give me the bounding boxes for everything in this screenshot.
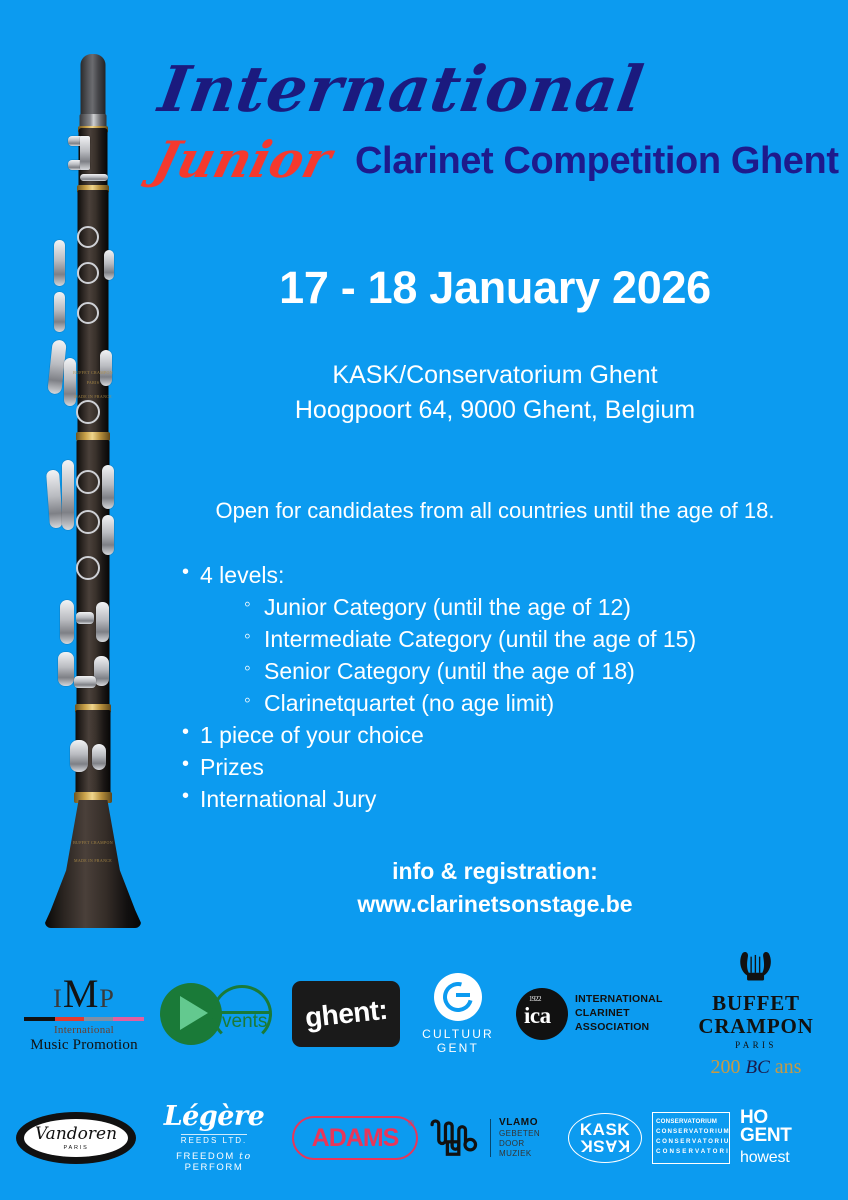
- clarinet-key-lever: [94, 656, 109, 686]
- clarinet-tone-ring: [77, 302, 99, 324]
- events-play-icon: [180, 996, 208, 1030]
- clarinet-bell-engraving-made: MADE IN FRANCE: [74, 858, 112, 864]
- logo-legere: Légère REEDS LTD. FREEDOM to PERFORM: [146, 1103, 282, 1173]
- logo-vandoren: Vandoren PARIS: [16, 1112, 136, 1164]
- clarinet-engraving-sub: PARIS: [87, 380, 99, 386]
- buffet-anniversary: 200 BC ans: [680, 1056, 832, 1079]
- ica-line-1: INTERNATIONAL: [575, 993, 663, 1007]
- clarinet-photo: BUFFET CRAMPON PARIS MADE IN FRANCE BUFF…: [18, 40, 168, 930]
- sub-list-item: Intermediate Category (until the age of …: [242, 624, 828, 656]
- legere-wordmark: Légère: [146, 1103, 282, 1130]
- imp-letters: IMP: [20, 974, 148, 1014]
- buffet-paris: PARIS: [680, 1040, 832, 1050]
- clarinet-key-lever: [58, 652, 74, 686]
- logo-events: vents: [160, 981, 280, 1047]
- vlamo-sub-2: DOOR: [499, 1139, 540, 1149]
- legere-tagline-c: PERFORM: [185, 1162, 244, 1173]
- buffet-anniv-number: 200: [711, 1056, 741, 1078]
- clarinet-bell: [45, 800, 141, 928]
- clarinet-key-lever: [96, 602, 109, 642]
- conservatorium-word: CONSERVATORIUM: [656, 1128, 730, 1135]
- logo-buffet-crampon: BUFFET CRAMPON PARIS 200 BC ans: [680, 949, 832, 1078]
- ica-fullname: INTERNATIONAL CLARINET ASSOCIATION: [575, 993, 663, 1035]
- cultuur-gent-bar-shape: [456, 993, 470, 997]
- logo-imp: IMP International Music Promotion: [20, 974, 148, 1054]
- details-list: 4 levels: Junior Category (until the age…: [178, 560, 828, 816]
- poster-root: BUFFET CRAMPON PARIS MADE IN FRANCE BUFF…: [0, 0, 848, 1200]
- registration-label: info & registration:: [150, 855, 840, 888]
- clarinet-key: [74, 676, 96, 688]
- conservatorium-word: CONSERVATORIUM: [656, 1138, 730, 1145]
- conservatorium-word: CONSERVATORIUM: [656, 1148, 730, 1155]
- howest-wordmark: howest: [740, 1149, 836, 1167]
- title-junior-script: Junior: [148, 130, 338, 189]
- vlamo-divider: [490, 1119, 491, 1157]
- ica-line-2: CLARINET: [575, 1007, 663, 1021]
- clarinet-bell-engraving: BUFFET CRAMPON: [73, 840, 113, 846]
- legere-tagline-b: to: [239, 1151, 252, 1162]
- venue-line-1: KASK/Conservatorium Ghent: [150, 358, 840, 393]
- clarinet-tone-ring: [76, 556, 100, 580]
- clarinet-key-lever: [60, 600, 74, 644]
- cultuur-gent-line-2: GENT: [412, 1041, 504, 1055]
- logo-ghent: ghent:: [292, 981, 400, 1047]
- sub-list-item: Junior Category (until the age of 12): [242, 592, 828, 624]
- event-date: 17 - 18 January 2026: [150, 262, 840, 314]
- imp-letter-i: I: [53, 984, 63, 1013]
- sub-list: Junior Category (until the age of 12) In…: [242, 592, 828, 720]
- list-item: 4 levels: Junior Category (until the age…: [178, 560, 828, 720]
- clarinet-engraving-made: MADE IN FRANCE: [74, 394, 112, 400]
- buffet-line-1: BUFFET: [680, 992, 832, 1015]
- vlamo-name: VLAMO: [499, 1117, 540, 1129]
- clarinet-engraving: BUFFET CRAMPON: [73, 370, 113, 376]
- vandoren-wordmark: Vandoren: [35, 1126, 117, 1143]
- vlamo-sub-3: MUZIEK: [499, 1149, 540, 1159]
- registration-block: info & registration: www.clarinetsonstag…: [150, 855, 840, 922]
- ica-year: 1922: [529, 995, 541, 1003]
- adams-registered-icon: ®: [408, 1119, 414, 1128]
- buffet-line-2: CRAMPON: [680, 1015, 832, 1038]
- legere-tagline-a: FREEDOM: [176, 1151, 235, 1162]
- cultuur-gent-icon: [434, 973, 482, 1021]
- clarinet-key-lever: [70, 740, 88, 772]
- list-item: International Jury: [178, 784, 828, 816]
- title-international-script: International: [154, 52, 649, 126]
- clarinet-key-lever: [46, 470, 63, 529]
- logo-conservatorium: CONSERVATORIUM CONSERVATORIUM CONSERVATO…: [652, 1112, 730, 1164]
- events-label: vents: [222, 1011, 267, 1033]
- sub-list-item: Senior Category (until the age of 18): [242, 656, 828, 688]
- clarinet-key: [80, 136, 90, 170]
- eligibility-text: Open for candidates from all countries u…: [150, 498, 840, 524]
- clarinet-tone-ring: [76, 510, 100, 534]
- conservatorium-word: CONSERVATORIUM: [656, 1118, 717, 1125]
- hogent-line-2: GENT: [740, 1127, 836, 1145]
- imp-subtitle-1: International: [20, 1024, 148, 1036]
- registration-url[interactable]: www.clarinetsonstage.be: [150, 888, 840, 921]
- imp-letter-m: M: [63, 971, 100, 1016]
- event-venue: KASK/Conservatorium Ghent Hoogpoort 64, …: [150, 358, 840, 427]
- logo-cultuur-gent: CULTUUR GENT: [412, 973, 504, 1055]
- lyre-icon: [736, 949, 775, 983]
- clarinet-key-lever: [102, 515, 114, 555]
- clarinet-key-lever: [100, 350, 112, 386]
- clarinet-tone-ring: [76, 400, 100, 424]
- vandoren-paris: PARIS: [63, 1145, 88, 1151]
- imp-letter-p: P: [99, 984, 114, 1013]
- ica-line-3: ASSOCIATION: [575, 1021, 663, 1035]
- clarinet-key-lever: [104, 250, 114, 280]
- clarinet-key-lever: [92, 744, 106, 770]
- buffet-anniv-ans: ans: [775, 1056, 802, 1078]
- vlamo-squiggle-icon: [428, 1117, 482, 1159]
- imp-color-bar: [24, 1017, 144, 1021]
- venue-line-2: Hoogpoort 64, 9000 Ghent, Belgium: [150, 393, 840, 428]
- ghent-label: ghent:: [303, 994, 388, 1034]
- logo-adams: ADAMS ®: [292, 1116, 418, 1160]
- vlamo-sub-1: GEBETEN: [499, 1129, 540, 1139]
- clarinet-tone-ring: [77, 226, 99, 248]
- vandoren-inner-oval: Vandoren PARIS: [24, 1119, 128, 1157]
- clarinet-tone-ring: [76, 470, 100, 494]
- clarinet-tone-ring: [77, 262, 99, 284]
- clarinet-key-lever: [62, 460, 74, 530]
- sub-list-item: Clarinetquartet (no age limit): [242, 688, 828, 720]
- poster-title: International Junior Clarinet Competitio…: [150, 52, 840, 202]
- list-item: 1 piece of your choice: [178, 720, 828, 752]
- sponsor-row-top: IMP International Music Promotion vents …: [20, 944, 832, 1084]
- logo-kask: KASK KASK: [568, 1113, 642, 1163]
- clarinet-key: [76, 612, 94, 624]
- legere-reeds-label: REEDS LTD.: [181, 1134, 248, 1145]
- list-item: Prizes: [178, 752, 828, 784]
- clarinet-key-lever: [102, 465, 114, 509]
- logo-ica: 1922 ica INTERNATIONAL CLARINET ASSOCIAT…: [516, 988, 668, 1040]
- clarinet-key-lever: [54, 292, 65, 332]
- ica-wordmark: ica: [524, 1004, 551, 1027]
- clarinet-key-lever: [54, 240, 65, 286]
- kask-wordmark-bottom: KASK: [580, 1138, 630, 1154]
- buffet-anniv-monogram: BC: [746, 1057, 770, 1078]
- legere-tagline: FREEDOM to PERFORM: [146, 1151, 282, 1173]
- logo-vlamo: VLAMO GEBETEN DOOR MUZIEK: [428, 1117, 558, 1159]
- cultuur-gent-line-1: CULTUUR: [412, 1027, 504, 1041]
- sponsor-row-bottom: Vandoren PARIS Légère REEDS LTD. FREEDOM…: [16, 1092, 836, 1184]
- vlamo-text: VLAMO GEBETEN DOOR MUZIEK: [499, 1117, 540, 1158]
- clarinet-key: [80, 174, 108, 181]
- cultuur-gent-c-shape: [438, 977, 479, 1018]
- logo-hogent: HO GENT howest: [740, 1109, 836, 1167]
- title-competition-text: Clarinet Competition Ghent: [355, 140, 839, 183]
- list-item-label: 4 levels:: [200, 562, 284, 588]
- adams-wordmark: ADAMS: [312, 1124, 399, 1153]
- imp-subtitle-2: Music Promotion: [20, 1037, 148, 1054]
- ica-badge-icon: 1922 ica: [516, 988, 568, 1040]
